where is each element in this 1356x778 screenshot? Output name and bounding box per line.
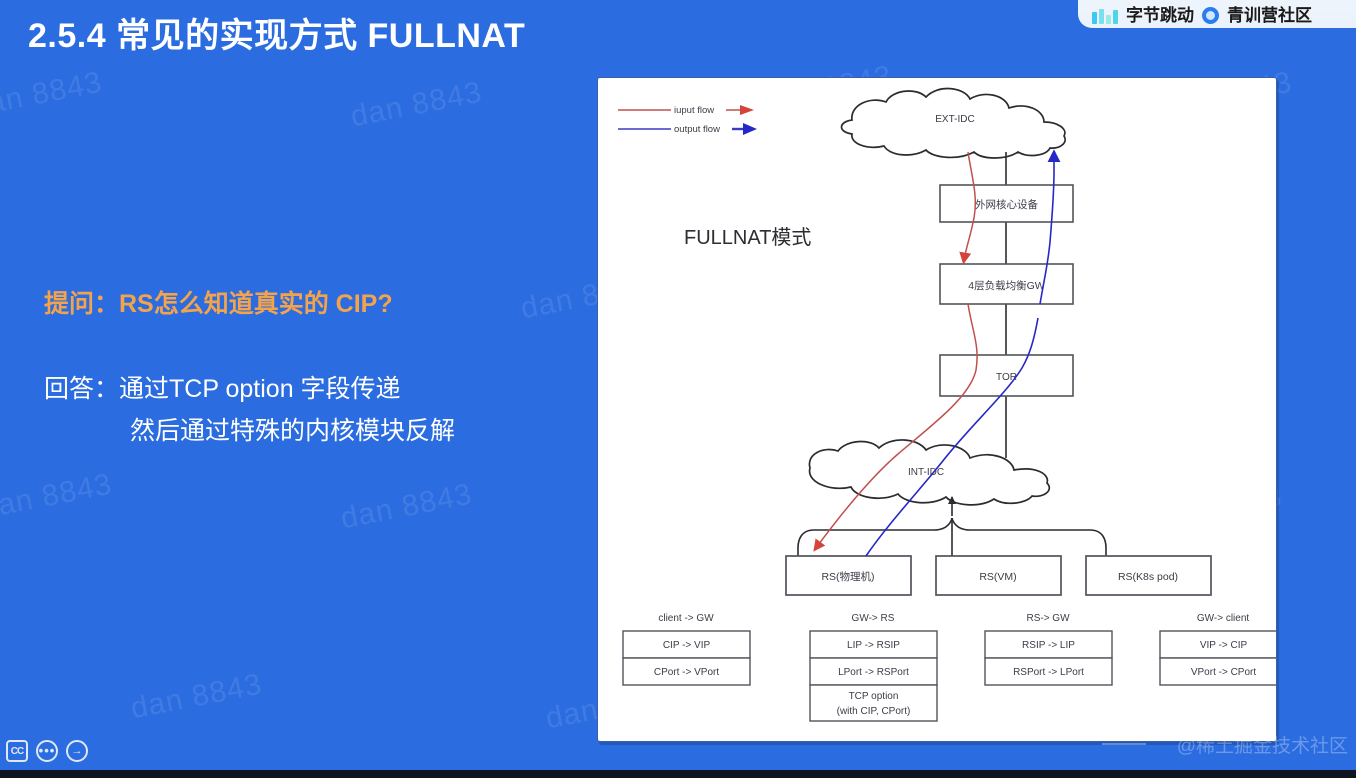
table-title-gw-rs: GW-> RS (852, 613, 895, 624)
fullnat-diagram: iuput flow output flow FULLNAT模式 EXT-IDC (598, 78, 1277, 742)
page-title: 2.5.4 常见的实现方式 FULLNAT (28, 8, 525, 57)
mapping-table-rs-to-gw: RS-> GW RSIP -> LIP RSPort -> LPort (985, 613, 1112, 685)
next-arrow-icon[interactable]: → (66, 740, 88, 762)
watermark: dan 8843 (128, 668, 265, 727)
table-cell: CIP -> VIP (663, 640, 711, 651)
brand-badge: 字节跳动 青训营社区 (1078, 0, 1356, 28)
more-options-icon[interactable]: ••• (36, 740, 58, 762)
node-int-idc: INT-IDC (809, 440, 1049, 505)
legend-arrowhead-output-icon (743, 123, 757, 135)
qa-block: 提问：RS怎么知道真实的 CIP? 回答：通过TCP option 字段传递 然… (44, 284, 544, 452)
table-cell-tcp-option-line2: (with CIP, CPort) (837, 706, 911, 717)
node-rs-physical: RS(物理机) (786, 556, 911, 595)
corner-watermark: @稀土掘金技术社区 (1177, 731, 1348, 758)
table-cell: LIP -> RSIP (847, 640, 900, 651)
brand-name: 字节跳动 (1126, 8, 1194, 24)
table-cell: VIP -> CIP (1200, 640, 1248, 651)
corner-divider (1102, 743, 1146, 745)
watermark: dan 8843 (0, 468, 115, 527)
mapping-table-gw-to-client: GW-> client VIP -> CIP VPort -> CPort (1160, 613, 1277, 685)
community-logo-icon (1202, 7, 1219, 24)
node-tor: TOR (940, 355, 1073, 396)
rs-k8s-label: RS(K8s pod) (1118, 571, 1178, 583)
legend-label-input: iuput flow (674, 105, 714, 116)
node-rs-vm: RS(VM) (936, 556, 1061, 595)
closed-caption-icon[interactable]: CC (6, 740, 28, 762)
question-text: 提问：RS怎么知道真实的 CIP? (44, 284, 544, 320)
watermark: dan 8843 (0, 66, 105, 125)
player-controls[interactable]: CC ••• → (6, 740, 88, 762)
fanout-right (952, 518, 1106, 556)
bytedance-logo-icon (1092, 9, 1118, 24)
table-cell: LPort -> RSPort (838, 667, 909, 678)
int-idc-label: INT-IDC (908, 467, 944, 478)
legend-label-output: output flow (674, 124, 720, 135)
answer-line-1: 回答：通过TCP option 字段传递 (44, 368, 544, 410)
table-title-client-gw: client -> GW (658, 613, 714, 624)
l4-lb-gw-label: 4层负载均衡GW (968, 279, 1045, 292)
slide-root: dan 8843 dan 8843 dan 8843 dan 8843 dan … (0, 0, 1356, 778)
table-title-gw-client: GW-> client (1197, 613, 1250, 624)
table-title-rs-gw: RS-> GW (1026, 613, 1070, 624)
legend: iuput flow output flow (618, 105, 757, 135)
rs-vm-label: RS(VM) (979, 571, 1016, 583)
brand-community: 青训营社区 (1227, 8, 1312, 24)
legend-arrowhead-input-icon (740, 105, 754, 115)
bottom-strip (0, 770, 1356, 778)
table-cell: VPort -> CPort (1191, 667, 1257, 678)
node-rs-k8s-pod: RS(K8s pod) (1086, 556, 1211, 595)
answer-line-2: 然后通过特殊的内核模块反解 (44, 410, 544, 452)
tor-label: TOR (996, 372, 1017, 383)
table-cell: RSIP -> LIP (1022, 640, 1075, 651)
fanout-left (798, 518, 952, 556)
table-cell: CPort -> VPort (654, 667, 720, 678)
watermark: dan 8843 (338, 478, 475, 537)
ext-core-device-label: 外网核心设备 (975, 198, 1038, 211)
mode-label: FULLNAT模式 (684, 226, 811, 249)
table-cell-tcp-option-line1: TCP option (849, 691, 899, 702)
mapping-table-gw-to-rs: GW-> RS LIP -> RSIP LPort -> RSPort TCP … (810, 613, 937, 721)
rs-physical-label: RS(物理机) (821, 570, 874, 583)
node-l4-lb-gw: 4层负载均衡GW (940, 264, 1073, 304)
diagram-panel: iuput flow output flow FULLNAT模式 EXT-IDC (597, 77, 1277, 742)
input-flow-seg2 (816, 304, 977, 548)
mapping-table-client-to-gw: client -> GW CIP -> VIP CPort -> VPort (623, 613, 750, 685)
table-cell: RSPort -> LPort (1013, 667, 1084, 678)
watermark: dan 8843 (348, 76, 485, 135)
node-ext-idc: EXT-IDC (842, 89, 1066, 158)
ext-idc-label: EXT-IDC (935, 114, 974, 125)
